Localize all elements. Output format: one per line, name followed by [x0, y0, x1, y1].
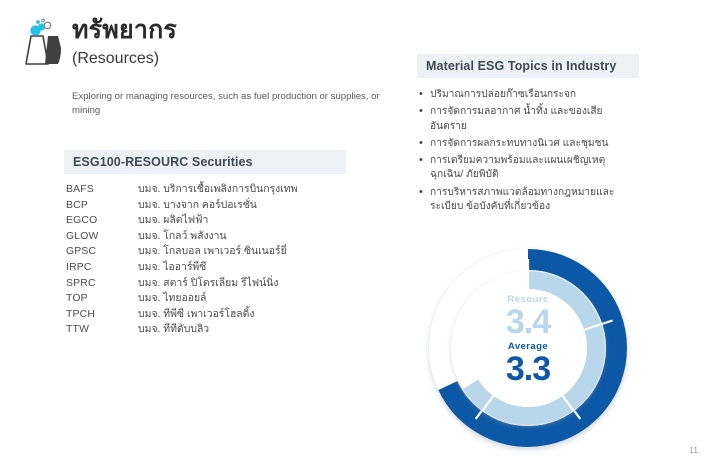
list-item: การบริหารสภาพแวดล้อมทางกฎหมายและระเบียบ …: [419, 186, 633, 215]
securities-section-title: ESG100-RESOURC Securities: [64, 155, 253, 169]
page-number: 11: [689, 445, 698, 455]
security-company-name: บมจ. ผลิตไฟฟ้า: [138, 213, 366, 229]
security-company-name: บมจ. ไออาร์พีซี: [138, 260, 366, 276]
topics-section-header: Material ESG Topics in Industry: [417, 54, 639, 78]
list-item: ปริมาณการปล่อยก๊าซเรือนกระจก: [419, 88, 633, 103]
security-ticker: BAFS: [66, 182, 138, 198]
security-ticker: GLOW: [66, 229, 138, 245]
security-company-name: บมจ. ทีพีซี เพาเวอร์โฮลดิ้ง: [138, 307, 366, 323]
resources-score-donut-chart: Resourc 3.4 Average 3.3: [412, 238, 644, 464]
securities-section-header: ESG100-RESOURC Securities: [64, 150, 346, 174]
table-row: GPSCบมจ. โกลบอล เพาเวอร์ ซินเนอร์ยี่: [66, 244, 366, 260]
slide-canvas: ทรัพยากร (Resources) Exploring or managi…: [0, 0, 712, 465]
material-topics-list: ปริมาณการปล่อยก๊าซเรือนกระจกการจัดการมลอ…: [419, 88, 633, 217]
table-row: BAFSบมจ. บริการเชื้อเพลิงการบินกรุงเทพ: [66, 182, 366, 198]
security-company-name: บมจ. ทีทีดับบลิว: [138, 322, 366, 338]
security-company-name: บมจ. บริการเชื้อเพลิงการบินกรุงเทพ: [138, 182, 366, 198]
table-row: TPCHบมจ. ทีพีซี เพาเวอร์โฮลดิ้ง: [66, 307, 366, 323]
security-ticker: IRPC: [66, 260, 138, 276]
factory-plant-icon: [14, 14, 68, 68]
page-title-thai: ทรัพยากร: [72, 16, 402, 45]
security-company-name: บมจ. ไทยออยล์: [138, 291, 366, 307]
table-row: BCPบมจ. บางจาก คอร์ปอเรชั่น: [66, 198, 366, 214]
table-row: GLOWบมจ. โกลว์ พลังงาน: [66, 229, 366, 245]
table-row: EGCOบมจ. ผลิตไฟฟ้า: [66, 213, 366, 229]
table-row: IRPCบมจ. ไออาร์พีซี: [66, 260, 366, 276]
security-company-name: บมจ. โกลว์ พลังงาน: [138, 229, 366, 245]
security-company-name: บมจ. โกลบอล เพาเวอร์ ซินเนอร์ยี่: [138, 244, 366, 260]
list-item: การจัดการมลอากาศ น้ำทิ้ง และของเสียอันตร…: [419, 105, 633, 134]
security-ticker: TPCH: [66, 307, 138, 323]
security-ticker: TOP: [66, 291, 138, 307]
page-subtitle: Exploring or managing resources, such as…: [72, 90, 390, 118]
security-company-name: บมจ. บางจาก คอร์ปอเรชั่น: [138, 198, 366, 214]
security-ticker: TTW: [66, 322, 138, 338]
page-title-english: (Resources): [72, 49, 402, 68]
list-item: การจัดการผลกระทบทางนิเวศ และชุมชน: [419, 137, 633, 152]
table-row: TTWบมจ. ทีทีดับบลิว: [66, 322, 366, 338]
table-row: TOPบมจ. ไทยออยล์: [66, 291, 366, 307]
security-ticker: EGCO: [66, 213, 138, 229]
security-ticker: SPRC: [66, 276, 138, 292]
securities-table: BAFSบมจ. บริการเชื้อเพลิงการบินกรุงเทพBC…: [66, 182, 366, 338]
security-ticker: BCP: [66, 198, 138, 214]
page-title: ทรัพยากร (Resources): [72, 16, 402, 68]
table-row: SPRCบมจ. สตาร์ ปิโตรเลียม รีไฟน์นิ่ง: [66, 276, 366, 292]
security-company-name: บมจ. สตาร์ ปิโตรเลียม รีไฟน์นิ่ง: [138, 276, 366, 292]
topics-section-title: Material ESG Topics in Industry: [417, 59, 616, 73]
list-item: การเตรียมความพร้อมและแผนเผชิญเหตุฉุกเฉิน…: [419, 154, 633, 183]
security-ticker: GPSC: [66, 244, 138, 260]
